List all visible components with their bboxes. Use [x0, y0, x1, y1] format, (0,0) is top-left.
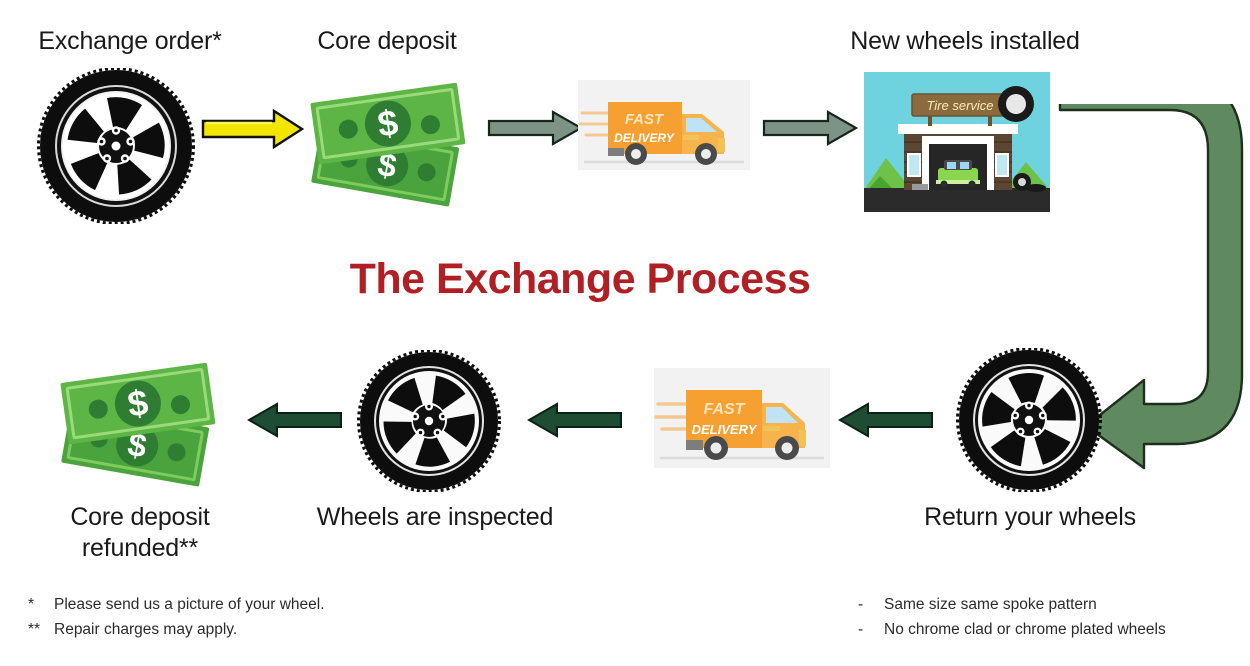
- arrow-right-sage-2: [762, 108, 858, 148]
- step-label-core-deposit-refunded: Core deposit refunded**: [10, 502, 270, 563]
- step-label-return-your-wheels: Return your wheels: [885, 502, 1175, 533]
- exchange-process-diagram: Exchange order* Core deposit New wheels …: [0, 0, 1250, 666]
- footnote-text: Same size same spoke pattern: [884, 592, 1097, 617]
- step-label-core-deposit: Core deposit: [278, 26, 496, 57]
- footnotes-left: * Please send us a picture of your wheel…: [28, 592, 488, 642]
- footnote-text: No chrome clad or chrome plated wheels: [884, 617, 1166, 642]
- arrow-left-dark-green-3: [838, 400, 934, 440]
- svg-text:FAST: FAST: [704, 401, 746, 418]
- wheel-icon-inspected: [356, 350, 502, 492]
- shop-sign-text: Tire service: [926, 98, 993, 113]
- footnote-right-1: - Same size same spoke pattern: [858, 592, 1250, 617]
- footnote-marker: -: [858, 617, 884, 642]
- svg-text:DELIVERY: DELIVERY: [692, 422, 758, 437]
- step-label-wheels-inspected: Wheels are inspected: [290, 502, 580, 533]
- tire-service-shop-icon: Tire service: [864, 72, 1050, 212]
- money-icon-refund: $ $: [52, 352, 232, 487]
- wheel-icon-return: [955, 348, 1103, 492]
- footnotes-right: - Same size same spoke pattern - No chro…: [858, 592, 1250, 642]
- footnote-right-2: - No chrome clad or chrome plated wheels: [858, 617, 1250, 642]
- svg-text:DELIVERY: DELIVERY: [614, 131, 675, 145]
- footnote-left-1: * Please send us a picture of your wheel…: [28, 592, 488, 617]
- footnote-marker: **: [28, 617, 54, 642]
- step-label-exchange-order: Exchange order*: [0, 26, 260, 57]
- svg-text:FAST: FAST: [625, 111, 665, 128]
- wheel-icon-exchange-order: [36, 68, 196, 224]
- footnote-left-2: ** Repair charges may apply.: [28, 617, 488, 642]
- money-icon-core-deposit: $ $: [302, 72, 482, 207]
- arrow-left-dark-green-1: [247, 400, 343, 440]
- step-label-new-wheels-installed: New wheels installed: [790, 26, 1140, 57]
- page-title: The Exchange Process: [0, 255, 1160, 304]
- arrow-right-sage-1: [487, 108, 583, 148]
- footnote-marker: -: [858, 592, 884, 617]
- delivery-truck-icon-return: FAST DELIVERY: [654, 368, 830, 468]
- footnote-marker: *: [28, 592, 54, 617]
- arrow-left-dark-green-2: [527, 400, 623, 440]
- footnote-text: Repair charges may apply.: [54, 617, 237, 642]
- footnote-text: Please send us a picture of your wheel.: [54, 592, 325, 617]
- arrow-right-yellow: [200, 108, 305, 150]
- delivery-truck-icon-outbound: FAST DELIVERY: [578, 80, 750, 170]
